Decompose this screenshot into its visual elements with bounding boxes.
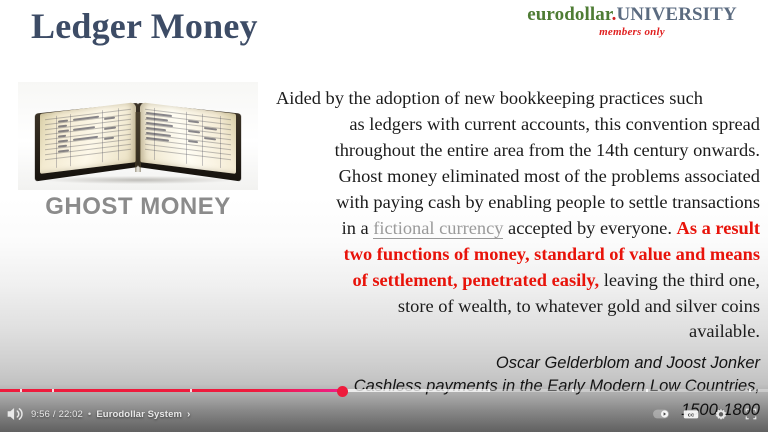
quote-line-5: with paying cash by enabling people to s… — [276, 190, 760, 216]
brand-tagline: members only — [506, 26, 758, 38]
settings-gear-icon[interactable] — [706, 399, 736, 429]
brand-name: eurodollar — [527, 4, 611, 25]
figure-caption: GHOST MONEY — [18, 193, 258, 221]
book-page-right — [140, 102, 236, 174]
chapter-marker — [749, 389, 751, 392]
time-and-chapter: 9:56 / 22:02 • Eurodollar System › — [31, 409, 190, 420]
chapter-marker — [190, 389, 192, 392]
time-separator-dot: • — [88, 409, 91, 420]
quote-line-2: as ledgers with current accounts, this c… — [276, 112, 760, 138]
quote-line-6-red: As a result — [677, 218, 760, 238]
player-controls-left: 9:56 / 22:02 • Eurodollar System › — [0, 396, 190, 432]
fullscreen-icon[interactable] — [736, 399, 766, 429]
book-page-left — [40, 102, 136, 174]
chapter-marker — [572, 389, 574, 392]
chapter-marker — [52, 389, 54, 392]
time-slash: / — [53, 409, 56, 420]
fictional-currency-link[interactable]: fictional currency — [373, 218, 503, 239]
quote-line-10: available. — [276, 319, 760, 345]
quote-line-7-red: two functions of money, standard of valu… — [344, 244, 760, 264]
current-time: 9:56 — [31, 409, 50, 420]
video-player-controls: 9:56 / 22:02 • Eurodollar System › — [0, 384, 768, 432]
quote-line-8-red: of settlement, penetrated easily, — [352, 270, 599, 290]
quote-line-1: Aided by the adoption of new bookkeeping… — [276, 86, 760, 112]
book-spine — [135, 112, 141, 172]
brand-logo: eurodollar.UNIVERSITY members only — [506, 5, 758, 38]
progress-scrubber-handle[interactable] — [337, 386, 348, 397]
quote-line-6: in a fictional currency accepted by ever… — [276, 216, 760, 242]
autoplay-toggle[interactable] — [646, 399, 676, 429]
quote-line-3: throughout the entire area from the 14th… — [276, 138, 760, 164]
video-slide-frame: Ledger Money eurodollar.UNIVERSITY membe… — [0, 0, 768, 432]
progress-bar[interactable] — [0, 384, 768, 396]
ledger-figure: GHOST MONEY — [18, 82, 258, 221]
page-title: Ledger Money — [31, 8, 258, 46]
attribution-authors: Oscar Gelderblom and Joost Jonker — [200, 352, 760, 375]
chapter-marker — [20, 389, 22, 392]
svg-text:cc: cc — [688, 413, 695, 419]
quote-line-4: Ghost money eliminated most of the probl… — [276, 164, 760, 190]
brand-logo-text: eurodollar.UNIVERSITY — [506, 5, 758, 24]
total-time: 22:02 — [59, 409, 83, 420]
book-illustration — [36, 92, 240, 178]
brand-suffix: UNIVERSITY — [616, 4, 736, 25]
volume-icon[interactable] — [0, 399, 30, 429]
quote-line-7: two functions of money, standard of valu… — [276, 242, 760, 268]
ledger-book-image — [18, 82, 258, 190]
quote-line-6-pre: in a — [342, 218, 374, 238]
chevron-right-icon[interactable]: › — [187, 409, 190, 420]
quote-line-8-rest: leaving the third one, — [599, 270, 760, 290]
player-control-row: 9:56 / 22:02 • Eurodollar System › — [0, 396, 768, 432]
quote-line-9: store of wealth, to whatever gold and si… — [276, 294, 760, 320]
chapter-marker — [488, 389, 490, 392]
chapter-marker — [646, 389, 648, 392]
player-controls-right: cc — [646, 396, 766, 432]
chapter-title[interactable]: Eurodollar System — [96, 409, 182, 420]
subtitles-icon[interactable]: cc — [676, 399, 706, 429]
quote-line-8: of settlement, penetrated easily, leavin… — [276, 268, 760, 294]
quote-line-6-mid: accepted by everyone. — [503, 218, 676, 238]
quote-body: Aided by the adoption of new bookkeeping… — [276, 86, 760, 345]
